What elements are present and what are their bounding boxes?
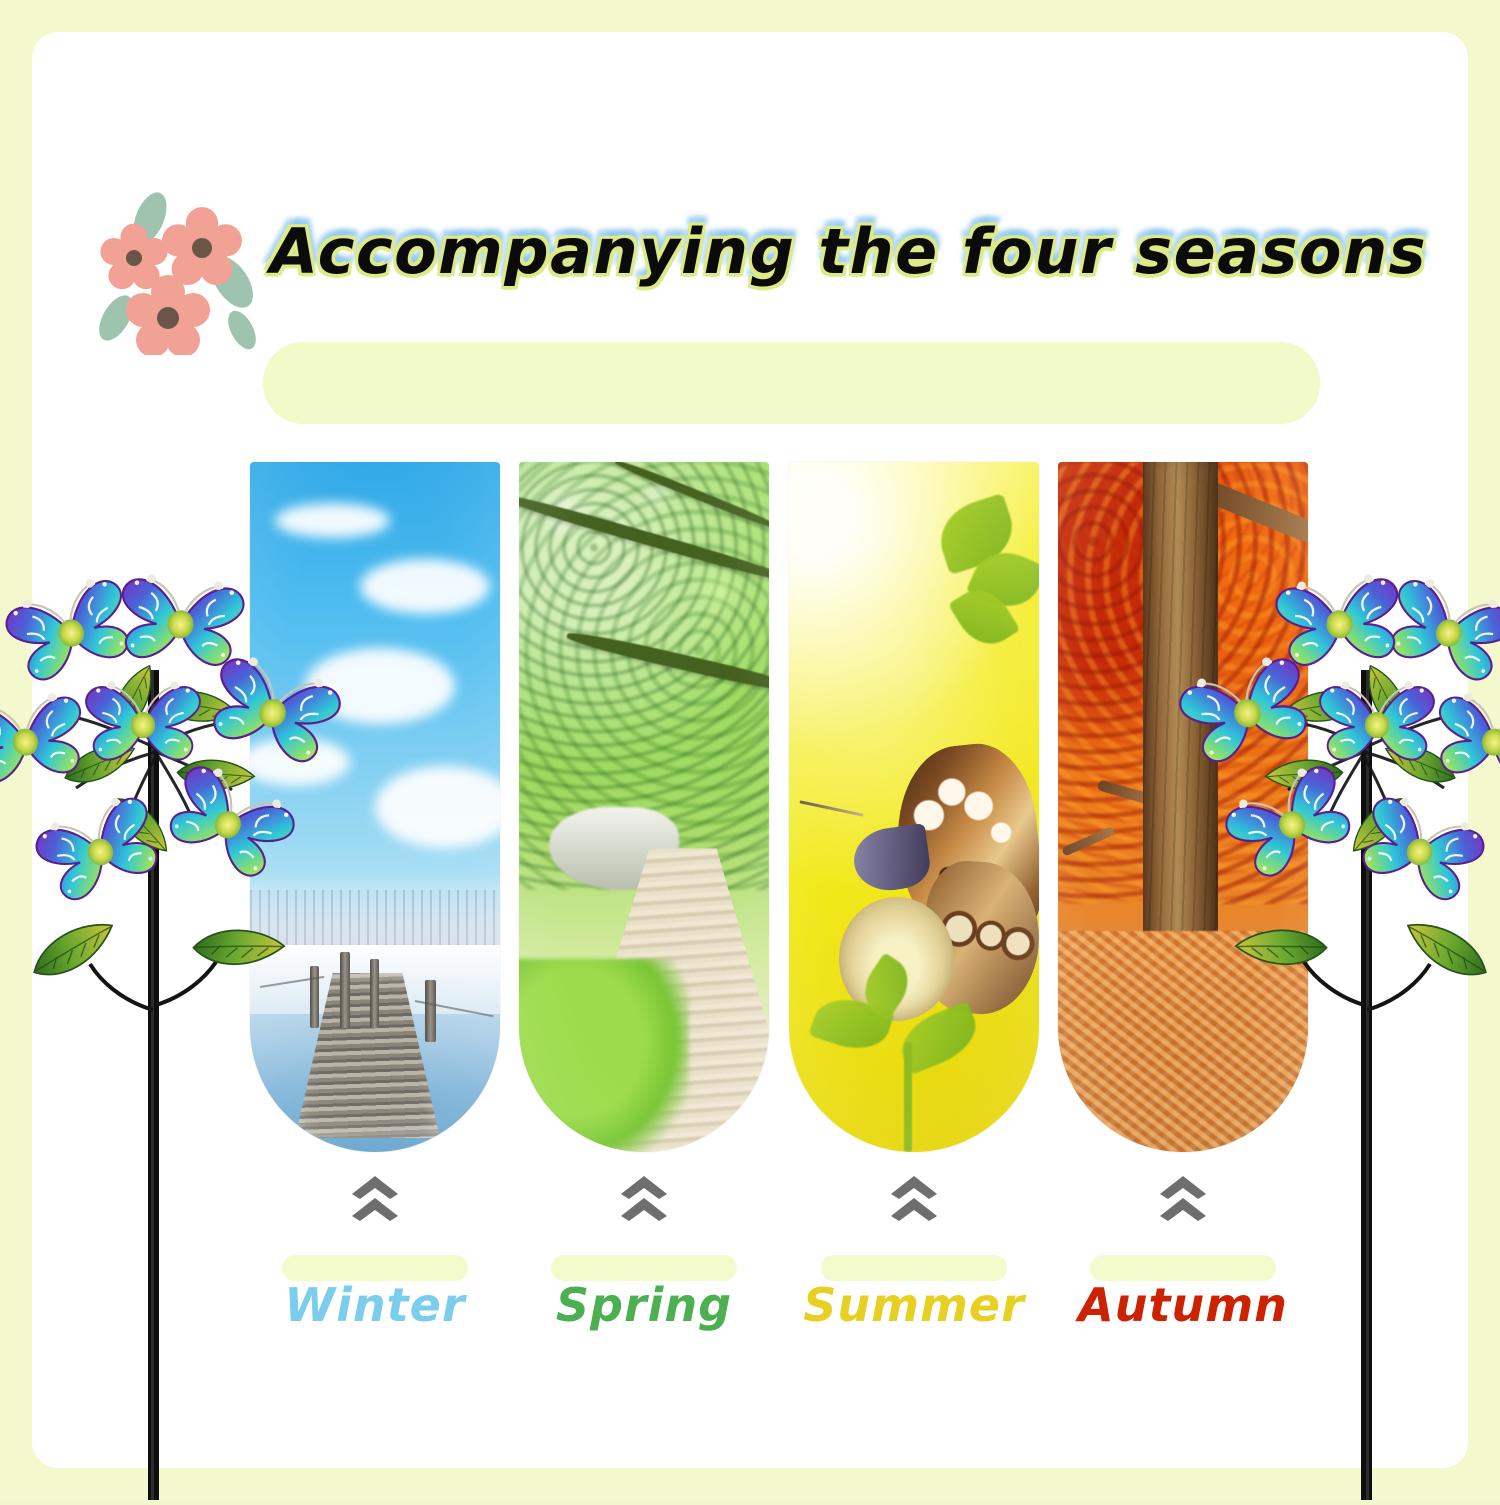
chevron-up-spring: [519, 1172, 769, 1224]
season-label-spring: Spring: [519, 1278, 769, 1332]
chevron-up-summer: [789, 1172, 1039, 1224]
summer-scene-image: [789, 462, 1039, 1152]
season-panel-summer[interactable]: [789, 462, 1039, 1152]
infographic-root: Accompanying the four seasons: [0, 0, 1500, 1500]
double-chevron-up-icon: [615, 1172, 673, 1224]
wind-spinner-left: [0, 560, 360, 1500]
double-chevron-up-icon: [885, 1172, 943, 1224]
wind-spinner-right: [1160, 560, 1500, 1500]
season-label-summer: Summer: [789, 1278, 1039, 1332]
season-panel-spring[interactable]: [519, 462, 769, 1152]
spring-scene-image: [519, 462, 769, 1152]
